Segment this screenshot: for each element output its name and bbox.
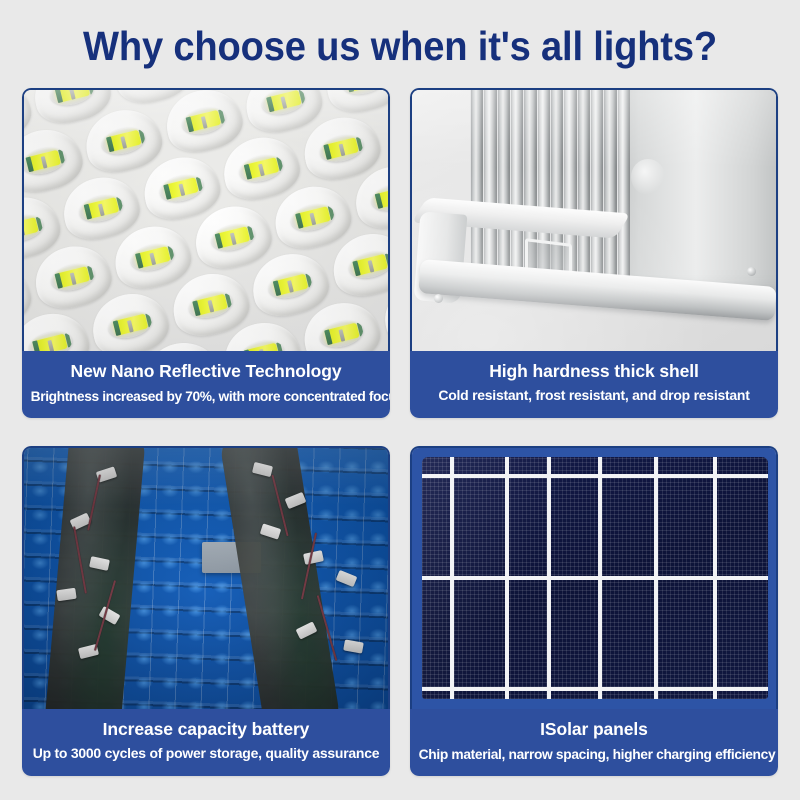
led-plane [22, 88, 390, 351]
led-scene [22, 88, 390, 351]
feature-subtitle: Chip material, narrow spacing, higher ch… [419, 745, 770, 764]
bracket-screw-icon [434, 294, 443, 303]
solar-busbar-vertical [505, 457, 509, 699]
feature-title: High hardness thick shell [416, 360, 772, 383]
solar-busbar-vertical [654, 457, 658, 699]
solar-panel-image [410, 446, 778, 709]
product-feature-page: Why choose us when it's all lights? [0, 0, 800, 800]
feature-card-new-nano-reflective-technology[interactable]: New Nano Reflective Technology Brightnes… [22, 88, 390, 418]
blue-battery-cell-pack-image [22, 446, 390, 709]
page-title: Why choose us when it's all lights? [28, 20, 772, 72]
led-reflector-array-image [22, 88, 390, 351]
feature-caption: New Nano Reflective Technology Brightnes… [22, 351, 390, 418]
heat-sink-scene [412, 90, 776, 351]
feature-subtitle: Brightness increased by 70%, with more c… [31, 387, 382, 406]
feature-title: Increase capacity battery [28, 718, 384, 741]
feature-subtitle: Up to 3000 cycles of power storage, qual… [31, 745, 382, 764]
feature-title: New Nano Reflective Technology [28, 360, 384, 383]
solar-panel-glass [422, 457, 768, 699]
feature-card-increase-capacity-battery[interactable]: Increase capacity battery Up to 3000 cyc… [22, 446, 390, 776]
battery-scene [24, 448, 388, 709]
feature-caption: Increase capacity battery Up to 3000 cyc… [22, 709, 390, 776]
solar-busbar-vertical [450, 457, 454, 699]
feature-card-isolar-panels[interactable]: ISolar panels Chip material, narrow spac… [410, 446, 778, 776]
feature-caption: ISolar panels Chip material, narrow spac… [410, 709, 778, 776]
feature-caption: High hardness thick shell Cold resistant… [410, 351, 778, 418]
aluminium-heat-sink-housing-image [410, 88, 778, 351]
feature-card-high-hardness-thick-shell[interactable]: High hardness thick shell Cold resistant… [410, 88, 778, 418]
feature-subtitle: Cold resistant, frost resistant, and dro… [419, 387, 770, 406]
feature-card-grid: New Nano Reflective Technology Brightnes… [22, 88, 778, 778]
solar-panel-scene [412, 448, 776, 709]
feature-title: ISolar panels [416, 718, 772, 741]
solar-busbar-vertical [598, 457, 602, 699]
solar-busbar-vertical [547, 457, 551, 699]
solar-busbar-vertical [713, 457, 717, 699]
